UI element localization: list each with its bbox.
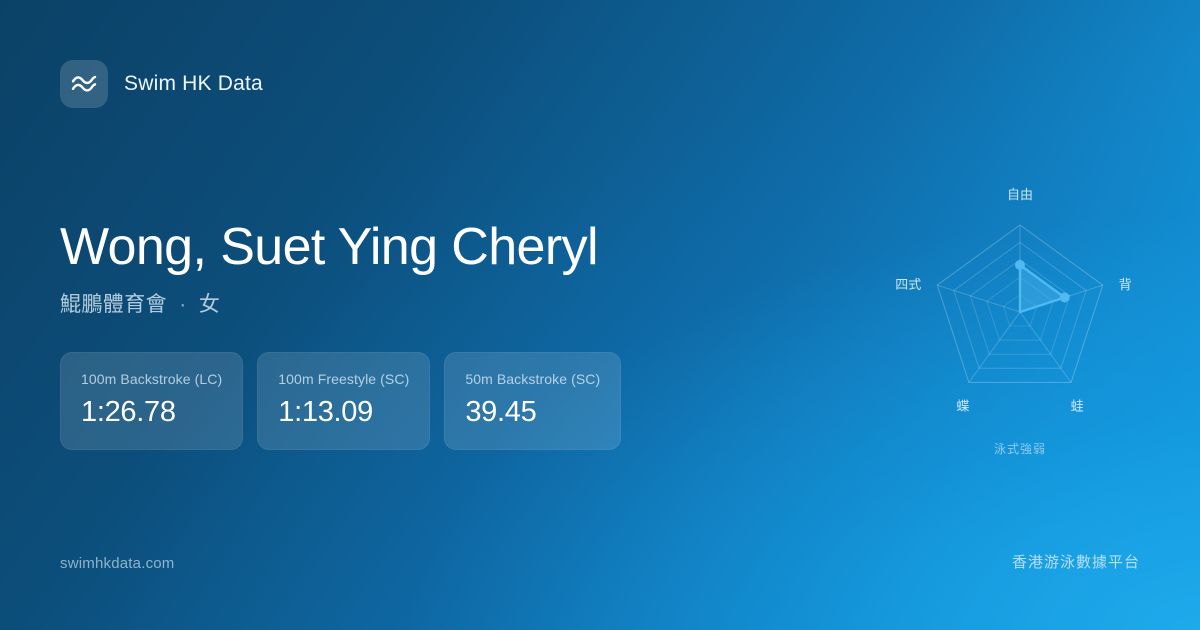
radar-caption: 泳式強弱 xyxy=(870,440,1170,457)
radar-label-breast: 蛙 xyxy=(1071,398,1084,413)
athlete-gender: 女 xyxy=(199,293,220,316)
wave-icon xyxy=(60,60,108,108)
page-title: Wong, Suet Ying Cheryl xyxy=(60,218,760,276)
brand-name: Swim HK Data xyxy=(124,72,263,96)
radar-chart: 自由 背 蛙 蝶 四式 泳式強弱 xyxy=(870,168,1170,478)
stat-card-event: 100m Freestyle (SC) xyxy=(278,371,409,387)
stat-card-event: 100m Backstroke (LC) xyxy=(81,371,222,387)
radar-label-free: 自由 xyxy=(1007,187,1033,202)
radar-label-im: 四式 xyxy=(895,277,921,292)
athlete-meta: 鯤鵬體育會 · 女 xyxy=(60,288,760,318)
stat-card-time: 39.45 xyxy=(465,396,600,429)
meta-separator: · xyxy=(173,293,192,316)
stat-card[interactable]: 50m Backstroke (SC) 39.45 xyxy=(444,352,621,450)
athlete-club: 鯤鵬體育會 xyxy=(60,293,167,316)
stat-card[interactable]: 100m Backstroke (LC) 1:26.78 xyxy=(60,352,243,450)
radar-series xyxy=(1015,260,1070,312)
stat-cards: 100m Backstroke (LC) 1:26.78 100m Freest… xyxy=(60,352,621,450)
footer-tagline: 香港游泳數據平台 xyxy=(1012,551,1140,572)
stat-card-time: 1:13.09 xyxy=(278,396,409,429)
radar-axis-labels: 自由 背 蛙 蝶 四式 xyxy=(895,187,1131,413)
radar-label-back: 背 xyxy=(1119,277,1132,292)
brand[interactable]: Swim HK Data xyxy=(60,60,263,108)
radar-label-fly: 蝶 xyxy=(956,398,969,413)
stat-card-event: 50m Backstroke (SC) xyxy=(465,371,600,387)
og-card: Swim HK Data Wong, Suet Ying Cheryl 鯤鵬體育… xyxy=(0,0,1200,630)
hero: Wong, Suet Ying Cheryl 鯤鵬體育會 · 女 xyxy=(60,218,760,318)
stat-card-time: 1:26.78 xyxy=(81,396,222,429)
stat-card[interactable]: 100m Freestyle (SC) 1:13.09 xyxy=(257,352,430,450)
footer-site[interactable]: swimhkdata.com xyxy=(60,555,175,572)
